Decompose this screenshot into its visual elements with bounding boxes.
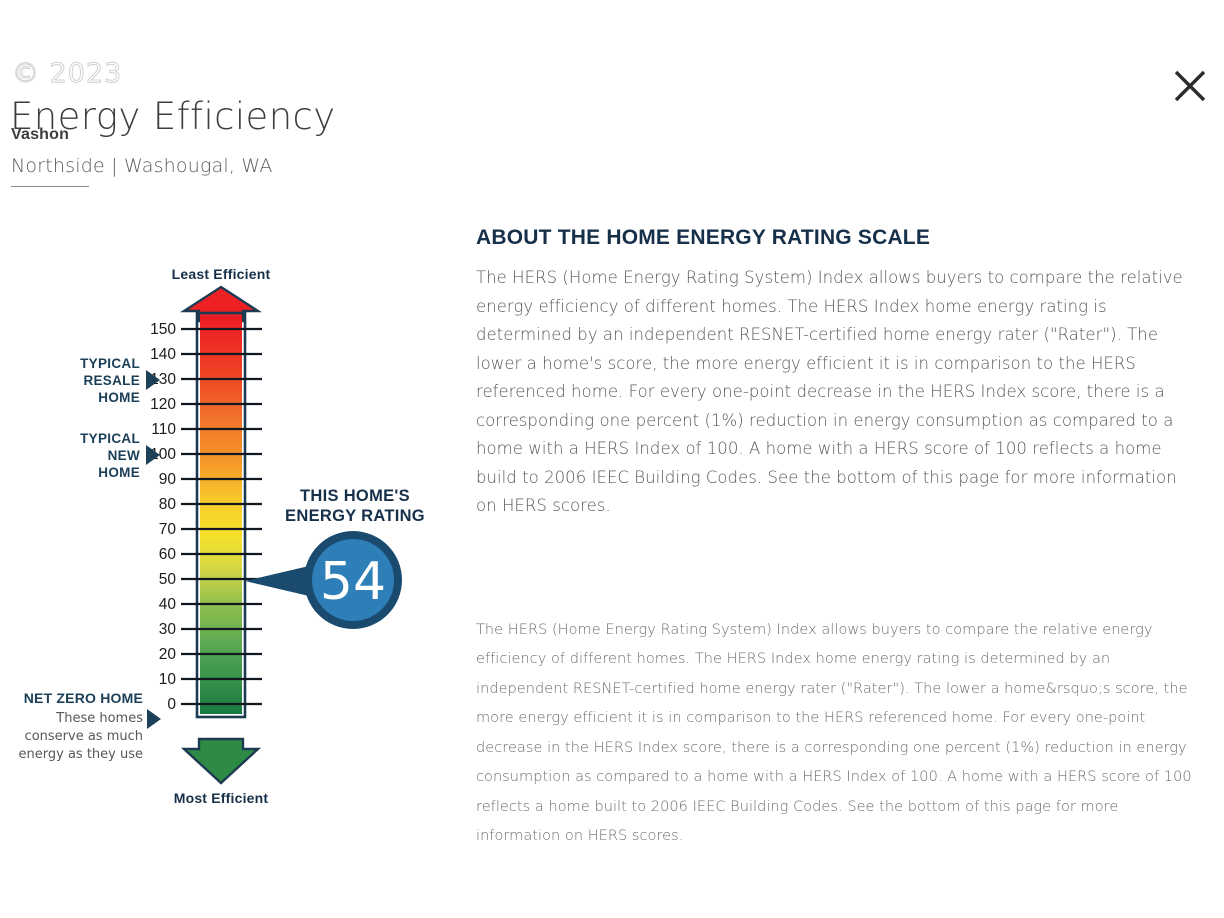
community-name: Vashon (11, 126, 69, 144)
about-section: ABOUT THE HOME ENERGY RATING SCALE The H… (476, 225, 1198, 852)
about-heading: ABOUT THE HOME ENERGY RATING SCALE (476, 225, 1198, 250)
tick-label: 120 (150, 396, 176, 413)
tick-label: 110 (151, 421, 176, 438)
tick-label: 60 (159, 546, 177, 563)
marker-label-line: HOME (98, 390, 140, 405)
tick-label: 30 (159, 621, 177, 638)
tick-label: 140 (150, 346, 176, 363)
marker-label-line: TYPICAL (80, 356, 140, 371)
callout-title-line: THIS HOME'S (300, 487, 410, 505)
hers-gauge-svg: Least Efficient (0, 255, 470, 815)
close-button[interactable] (1166, 62, 1214, 110)
tick-label: 10 (159, 671, 177, 688)
hers-index-gauge: Least Efficient (0, 255, 470, 815)
gauge-top-cap-label: Least Efficient (172, 266, 271, 282)
least-efficient-arrow (184, 287, 258, 321)
most-efficient-arrow (184, 739, 258, 783)
about-body-text: The HERS (Home Energy Rating System) Ind… (476, 264, 1198, 521)
tick-label: 80 (159, 496, 177, 513)
callout-title-line: ENERGY RATING (285, 507, 425, 525)
net-zero-title: NET ZERO HOME (24, 690, 143, 706)
tick-label: 0 (167, 696, 176, 713)
marker-label-line: TYPICAL (80, 431, 140, 446)
marker-label-line: NEW (108, 448, 140, 463)
tick-label: 90 (159, 471, 177, 488)
hers-detail-text: The HERS (Home Energy Rating System) Ind… (476, 616, 1198, 852)
marker-arrow-icon (147, 709, 161, 729)
this-home-score: 54 (320, 552, 386, 612)
tick-label: 70 (159, 521, 177, 538)
marker-label-line: RESALE (83, 373, 140, 388)
copyright-watermark: © 2023 (12, 58, 122, 89)
marker-typical-resale-home: TYPICAL RESALE HOME (80, 356, 160, 405)
gauge-bottom-cap-label: Most Efficient (174, 790, 269, 806)
tick-label: 50 (159, 571, 177, 588)
marker-label-line: HOME (98, 465, 140, 480)
net-zero-desc-line: These homes (55, 711, 143, 726)
tick-label: 20 (159, 646, 177, 663)
net-zero-desc-line: conserve as much (25, 729, 143, 744)
tick-label: 40 (159, 596, 177, 613)
page-header: © 2023 Energy Efficiency Vashon Northsid… (0, 0, 1224, 200)
community-location: Northside | Washougal, WA (11, 155, 273, 177)
marker-typical-new-home: TYPICAL NEW HOME (80, 431, 160, 480)
title-divider (11, 186, 89, 187)
marker-net-zero-home: NET ZERO HOME These homes conserve as mu… (19, 690, 161, 762)
net-zero-desc-line: energy as they use (19, 747, 143, 762)
tick-label: 150 (150, 321, 176, 338)
close-icon (1173, 69, 1207, 103)
this-home-rating-callout: THIS HOME'S ENERGY RATING 54 (245, 487, 425, 629)
gauge-bar (197, 313, 245, 717)
